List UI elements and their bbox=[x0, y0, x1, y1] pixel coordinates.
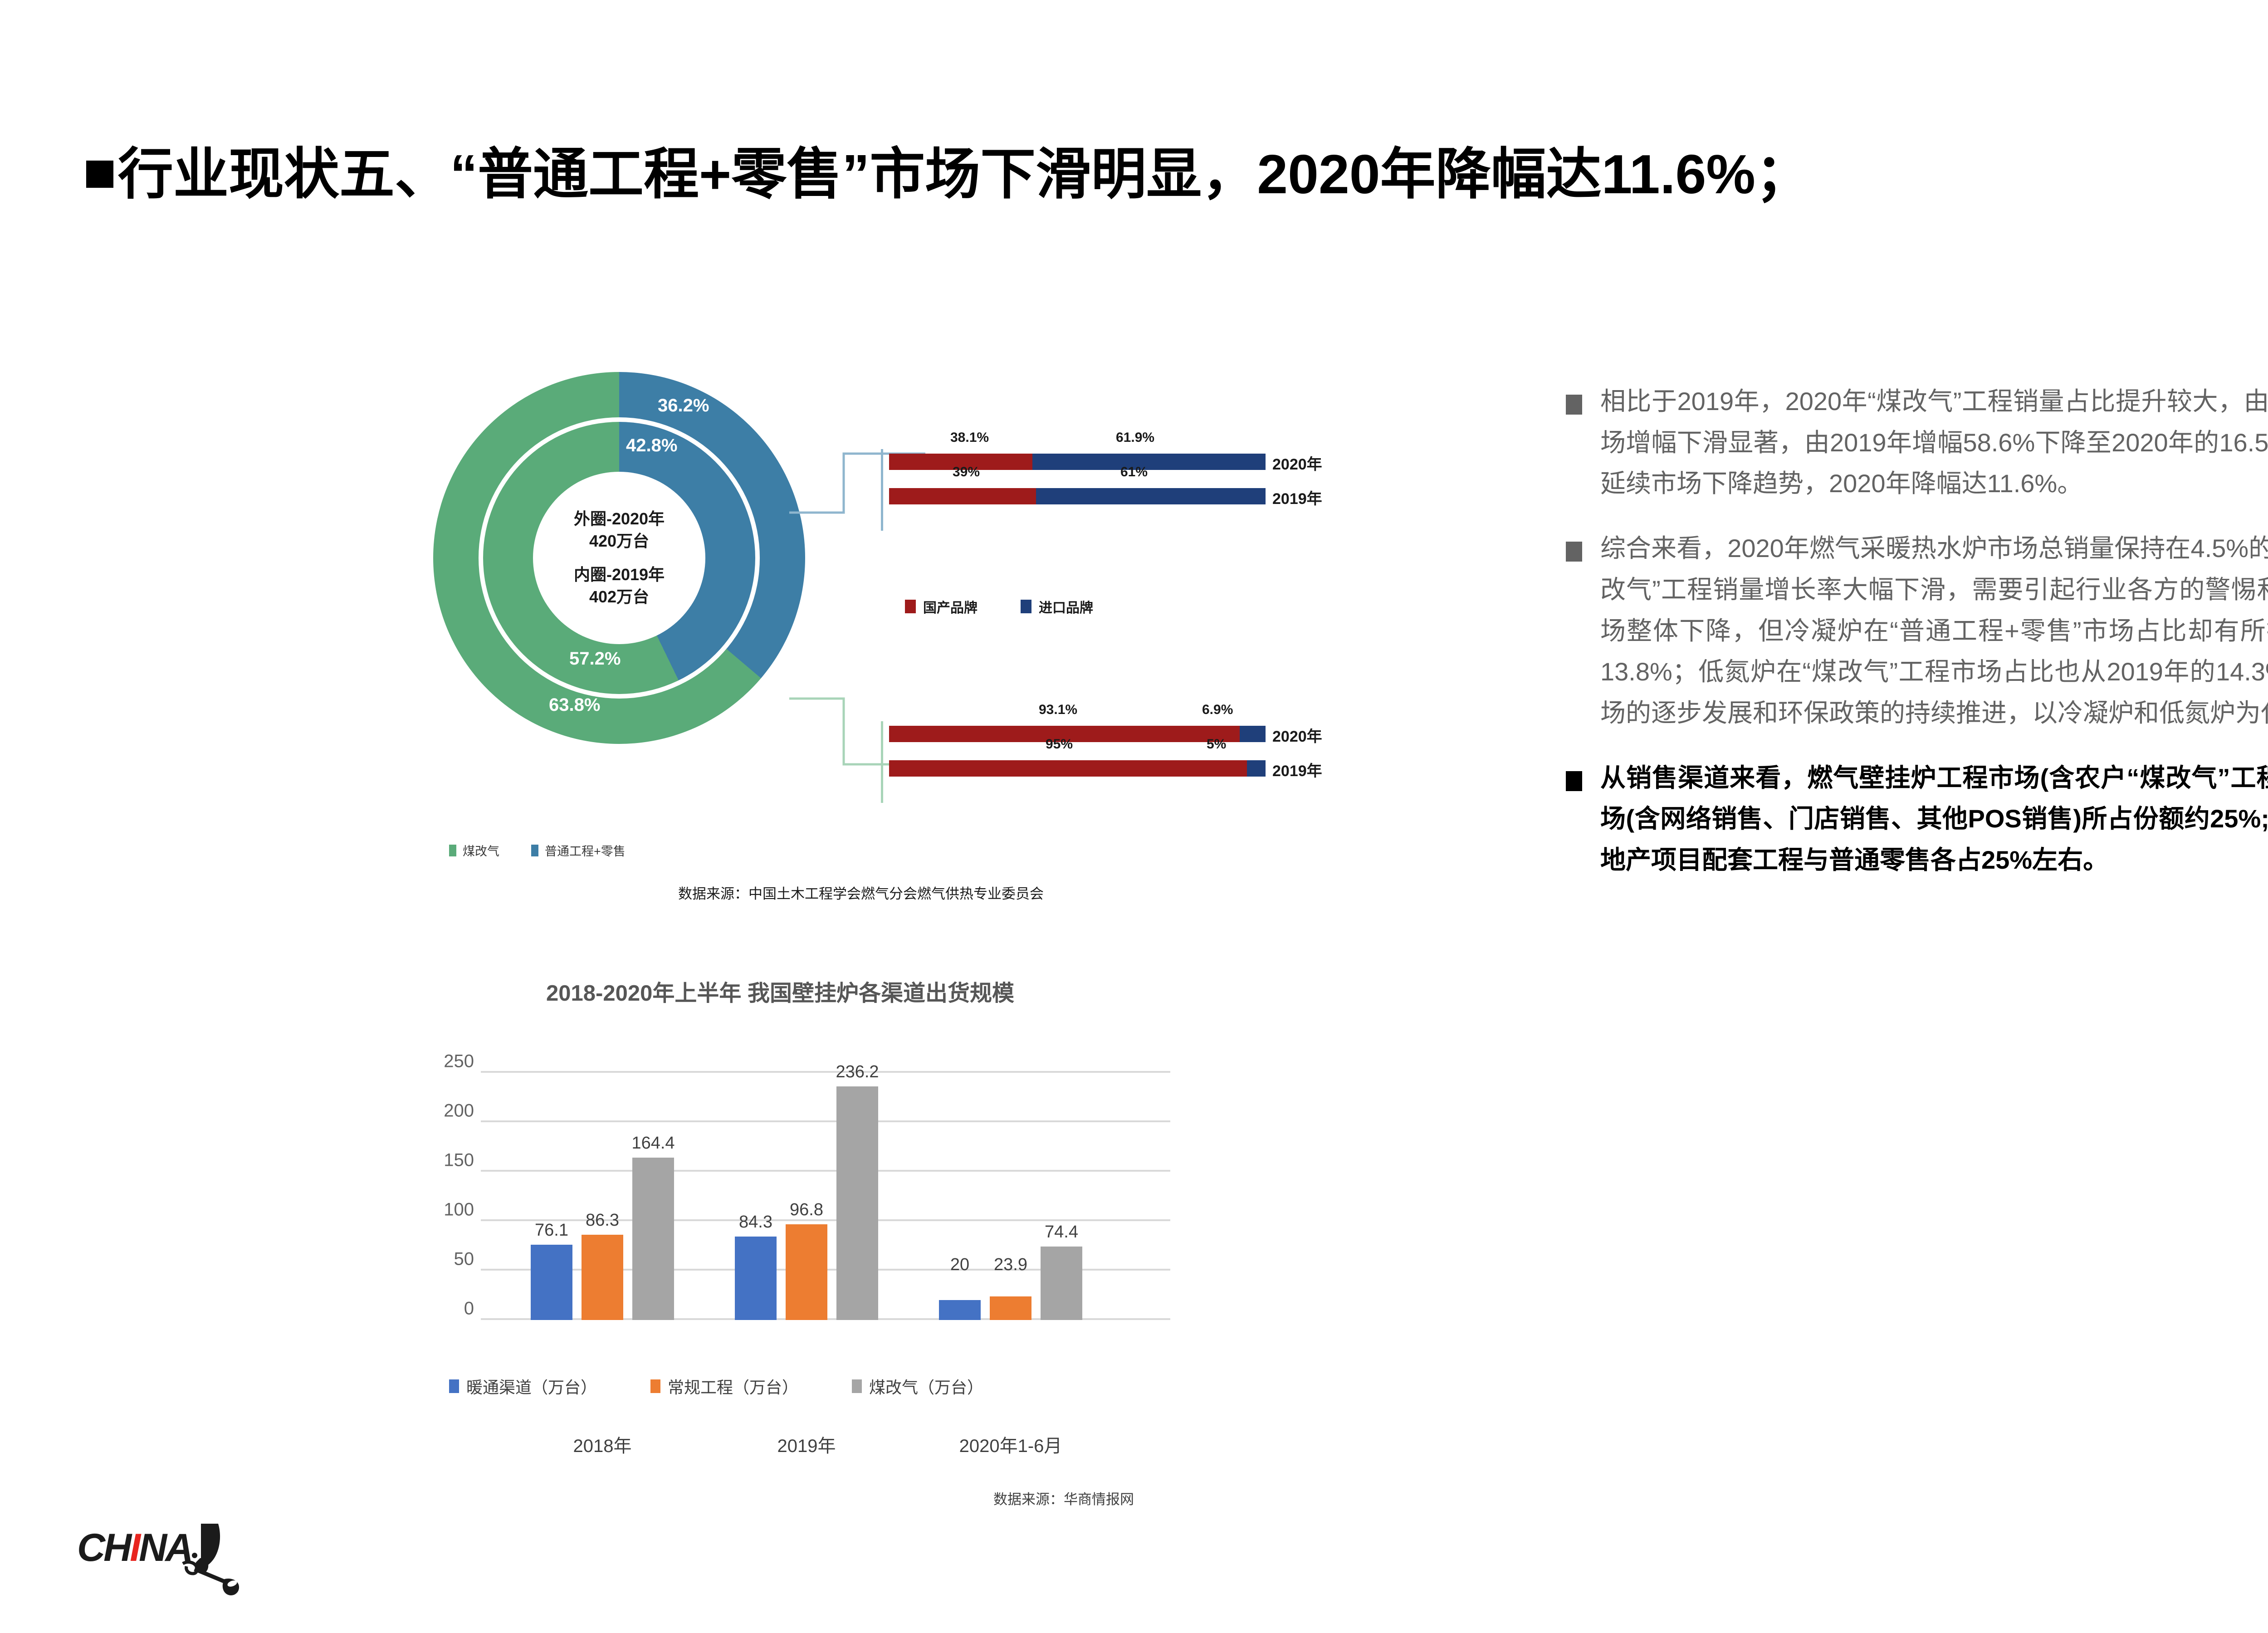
bar-label-2020-coal: 74.4 bbox=[1045, 1222, 1078, 1242]
mini-year-2020: 2020年 bbox=[1272, 452, 1322, 474]
bar-chart-legend: 暖通渠道（万台） 常规工程（万台） 煤改气（万台） bbox=[449, 1374, 983, 1398]
mini-bar-coal-2019 bbox=[889, 760, 1266, 777]
mini-value-domestic-coal-2019: 95% bbox=[1046, 737, 1073, 752]
mini-value-domestic-coal-2020: 93.1% bbox=[1039, 702, 1077, 718]
donut-source-text: 数据来源：中国土木工程学会燃气分会燃气供热专业委员会 bbox=[678, 882, 1044, 903]
bar-xlabel-2018: 2018年 bbox=[573, 1431, 632, 1457]
gridline-200 bbox=[481, 1120, 1170, 1122]
left-content-column: 36.2% 42.8% 57.2% 63.8% 外圈-2020年 420万台 内… bbox=[0, 0, 1338, 1633]
bar-2020-coal bbox=[1041, 1247, 1082, 1320]
hand-with-pipe-icon bbox=[175, 1522, 261, 1601]
brand-logo: CHINA bbox=[77, 1522, 259, 1613]
mini-value-imported-2020: 61.9% bbox=[1116, 430, 1154, 445]
bar-2018-coal bbox=[632, 1158, 674, 1320]
bar-2019-hvac bbox=[735, 1237, 777, 1320]
bar-chart: 2018-2020年上半年 我国壁挂炉各渠道出货规模 0 50 100 150 … bbox=[345, 975, 1297, 1452]
bar-xlabel-2019: 2019年 bbox=[777, 1431, 836, 1457]
ytick-0: 0 bbox=[464, 1299, 474, 1319]
ytick-200: 200 bbox=[444, 1101, 474, 1121]
donut-center-line-4: 402万台 bbox=[533, 586, 705, 608]
mini-year-2019: 2019年 bbox=[1272, 486, 1322, 508]
donut-legend-item-coal: 煤改气 bbox=[449, 841, 499, 859]
bar-2020-hvac bbox=[939, 1300, 981, 1320]
donut-legend-item-retail: 普通工程+零售 bbox=[531, 841, 626, 859]
bar-legend-label-coal: 煤改气（万台） bbox=[869, 1374, 983, 1398]
donut-legend: 煤改气 普通工程+零售 bbox=[449, 841, 626, 859]
donut-label-outer-retail: 36.2% bbox=[658, 396, 709, 416]
mini-year-coal-2019: 2019年 bbox=[1272, 758, 1322, 781]
logo-text-part1: CH bbox=[77, 1526, 130, 1569]
bar-label-2018-regular: 86.3 bbox=[586, 1211, 619, 1230]
gridline-250 bbox=[481, 1071, 1170, 1073]
mini-row-coal-2019: 95% 5% 2019年 bbox=[889, 760, 1343, 777]
bar-legend-item-coal: 煤改气（万台） bbox=[852, 1374, 983, 1398]
bar-chart-plot-area: 0 50 100 150 200 250 76.1 86.3 164.4 201… bbox=[481, 1073, 1170, 1320]
donut-center-line-1: 外圈-2020年 bbox=[533, 508, 705, 530]
donut-label-outer-coal: 63.8% bbox=[549, 695, 600, 715]
donut-center-line-2: 420万台 bbox=[533, 530, 705, 552]
bar-legend-swatch-hvac-icon bbox=[449, 1379, 459, 1393]
bullet-text-3: 从销售渠道来看，燃气壁挂炉工程市场(含农户“煤改气”工程、地产项目配套工程)所占… bbox=[1600, 758, 2268, 881]
mini-chart-retail-brand-split: 38.1% 61.9% 2020年 39% 61% 2019年 bbox=[889, 454, 1343, 523]
donut-label-inner-retail: 42.8% bbox=[626, 435, 677, 456]
bar-2018-regular bbox=[582, 1235, 623, 1320]
bar-legend-item-hvac: 暖通渠道（万台） bbox=[449, 1374, 597, 1398]
bullet-text-2: 综合来看，2020年燃气采暖热水炉市场总销量保持在4.5%的增长率，得益于“煤改… bbox=[1600, 528, 2268, 734]
bullet-text-1: 相比于2019年，2020年“煤改气”工程销量占比提升较大，由2019年占全年总… bbox=[1600, 381, 2268, 504]
bar-xlabel-2020: 2020年1-6月 bbox=[959, 1431, 1062, 1457]
brand-legend-label-domestic: 国产品牌 bbox=[923, 596, 978, 616]
mini-chart-axis-lower bbox=[881, 721, 883, 803]
brand-legend-item-imported: 进口品牌 bbox=[1021, 596, 1093, 616]
bullet-item-1: 相比于2019年，2020年“煤改气”工程销量占比提升较大，由2019年占全年总… bbox=[1538, 381, 2268, 504]
mini-year-coal-2020: 2020年 bbox=[1272, 724, 1322, 746]
gridline-150 bbox=[481, 1170, 1170, 1172]
mini-row-2019: 39% 61% 2019年 bbox=[889, 488, 1343, 504]
bar-legend-item-regular: 常规工程（万台） bbox=[650, 1374, 798, 1398]
ytick-250: 250 bbox=[444, 1051, 474, 1072]
right-content-column: 相比于2019年，2020年“煤改气”工程销量占比提升较大，由2019年占全年总… bbox=[1538, 381, 2268, 905]
bar-2019-coal bbox=[836, 1086, 878, 1320]
mini-value-domestic-2020: 38.1% bbox=[950, 430, 989, 445]
mini-seg-domestic-coal-2019 bbox=[889, 760, 1247, 777]
mini-seg-imported-coal-2019 bbox=[1247, 760, 1266, 777]
bar-label-2018-coal: 164.4 bbox=[631, 1134, 675, 1153]
donut-chart: 36.2% 42.8% 57.2% 63.8% 外圈-2020年 420万台 内… bbox=[433, 372, 805, 744]
logo-text-accent-i: I bbox=[130, 1526, 139, 1569]
mini-chart-axis-upper bbox=[881, 449, 883, 531]
bullet-item-2: 综合来看，2020年燃气采暖热水炉市场总销量保持在4.5%的增长率，得益于“煤改… bbox=[1538, 528, 2268, 734]
ytick-50: 50 bbox=[454, 1249, 474, 1270]
brand-legend-swatch-imported-icon bbox=[1021, 600, 1031, 613]
bar-2019-regular bbox=[786, 1224, 827, 1320]
donut-label-inner-coal: 57.2% bbox=[569, 649, 621, 669]
bar-label-2020-regular: 23.9 bbox=[994, 1255, 1027, 1275]
gridline-100 bbox=[481, 1219, 1170, 1221]
mini-chart-coal-brand-split: 93.1% 6.9% 2020年 95% 5% 2019年 bbox=[889, 726, 1343, 795]
mini-seg-imported-2020 bbox=[1032, 454, 1266, 470]
bar-legend-swatch-regular-icon bbox=[650, 1379, 660, 1393]
brand-legend: 国产品牌 进口品牌 bbox=[905, 596, 1093, 616]
mini-value-imported-coal-2020: 6.9% bbox=[1202, 702, 1233, 718]
mini-row-coal-2020: 93.1% 6.9% 2020年 bbox=[889, 726, 1343, 742]
bar-label-2020-hvac: 20 bbox=[950, 1255, 969, 1275]
donut-center-line-3: 内圈-2019年 bbox=[533, 564, 705, 586]
brand-legend-item-domestic: 国产品牌 bbox=[905, 596, 978, 616]
mini-seg-imported-coal-2020 bbox=[1240, 726, 1266, 742]
donut-legend-label-coal: 煤改气 bbox=[463, 841, 499, 859]
bullet-marker-3-icon bbox=[1566, 771, 1582, 791]
mini-seg-domestic-2019 bbox=[889, 488, 1036, 504]
mini-value-domestic-2019: 39% bbox=[953, 464, 980, 480]
bullet-marker-2-icon bbox=[1566, 542, 1582, 562]
donut-legend-swatch-coal-icon bbox=[449, 845, 456, 856]
brand-legend-swatch-domestic-icon bbox=[905, 600, 916, 613]
bar-2020-regular bbox=[990, 1296, 1031, 1320]
donut-center-label: 外圈-2020年 420万台 内圈-2019年 402万台 bbox=[533, 508, 705, 608]
bar-legend-label-regular: 常规工程（万台） bbox=[668, 1374, 798, 1398]
bullet-marker-1-icon bbox=[1566, 395, 1582, 415]
ytick-150: 150 bbox=[444, 1150, 474, 1171]
bar-label-2018-hvac: 76.1 bbox=[535, 1221, 568, 1240]
bar-chart-title: 2018-2020年上半年 我国壁挂炉各渠道出货规模 bbox=[345, 975, 1216, 1007]
mini-bar-2020 bbox=[889, 454, 1266, 470]
mini-value-imported-coal-2019: 5% bbox=[1207, 737, 1226, 752]
bar-legend-label-hvac: 暖通渠道（万台） bbox=[466, 1374, 597, 1398]
donut-center-spacer bbox=[533, 552, 705, 564]
bar-label-2019-regular: 96.8 bbox=[790, 1200, 823, 1220]
bar-chart-source-text: 数据来源：华商情报网 bbox=[993, 1488, 1134, 1508]
mini-bar-2019 bbox=[889, 488, 1266, 504]
bar-label-2019-hvac: 84.3 bbox=[739, 1213, 772, 1232]
ytick-100: 100 bbox=[444, 1200, 474, 1220]
bar-legend-swatch-coal-icon bbox=[852, 1379, 862, 1393]
mini-seg-imported-2019 bbox=[1036, 488, 1266, 504]
bar-label-2019-coal: 236.2 bbox=[836, 1062, 879, 1082]
bar-2018-hvac bbox=[531, 1245, 572, 1320]
donut-legend-label-retail: 普通工程+零售 bbox=[545, 841, 626, 859]
bullet-item-3: 从销售渠道来看，燃气壁挂炉工程市场(含农户“煤改气”工程、地产项目配套工程)所占… bbox=[1538, 758, 2268, 881]
mini-value-imported-2019: 61% bbox=[1120, 464, 1148, 480]
brand-legend-label-imported: 进口品牌 bbox=[1039, 596, 1093, 616]
donut-legend-swatch-retail-icon bbox=[531, 845, 538, 856]
